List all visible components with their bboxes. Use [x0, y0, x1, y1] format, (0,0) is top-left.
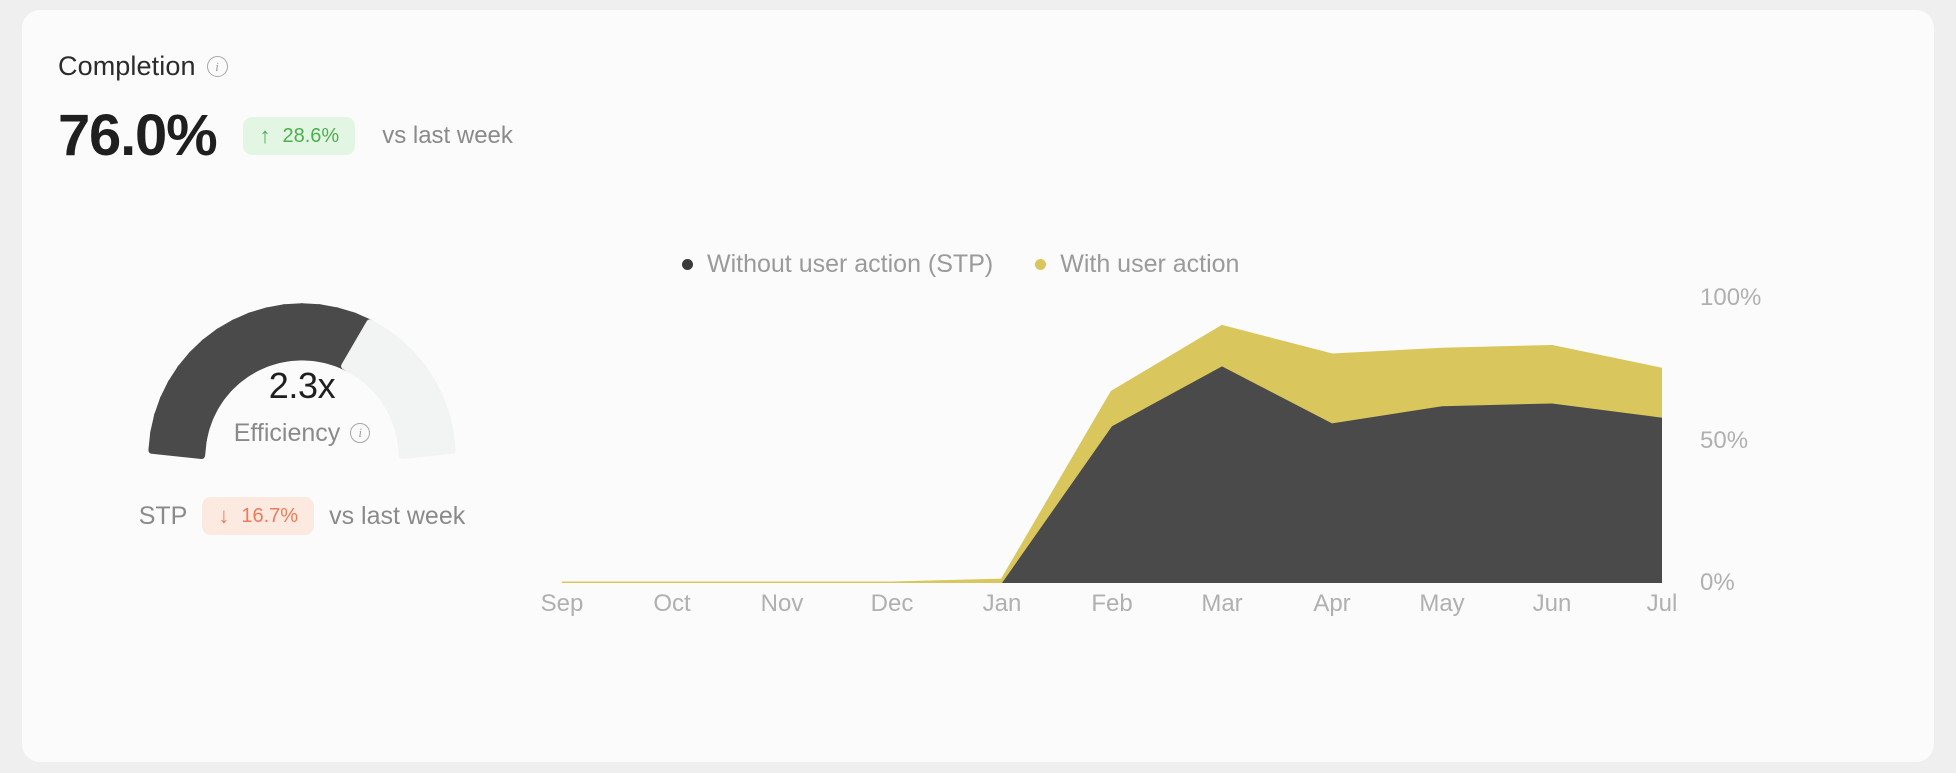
- completion-area-chart-block: Without user action (STP) With user acti…: [682, 250, 1872, 650]
- efficiency-label: Efficiency: [234, 419, 341, 447]
- kpi-title-row: Completion i: [58, 50, 958, 82]
- legend-item-with-user-action[interactable]: With user action: [1035, 250, 1239, 278]
- y-axis-tick-label: 50%: [1700, 427, 1748, 455]
- chart-legend: Without user action (STP) With user acti…: [682, 250, 1239, 278]
- efficiency-value: 2.3x: [82, 365, 522, 407]
- stp-row: STP ↓ 16.7% vs last week: [82, 497, 522, 535]
- gauge-center-labels: 2.3x Efficiency i: [82, 365, 522, 447]
- info-icon[interactable]: i: [207, 56, 228, 77]
- page-root: Completion i 76.0% ↑ 28.6% vs last week …: [0, 0, 1956, 773]
- legend-label: With user action: [1060, 250, 1239, 278]
- legend-dot-icon: [1035, 259, 1046, 270]
- info-icon[interactable]: i: [350, 423, 370, 443]
- x-axis-tick-label: Jul: [1647, 590, 1678, 618]
- x-axis-tick-label: Jan: [983, 590, 1022, 618]
- kpi-header: Completion i 76.0% ↑ 28.6% vs last week: [58, 50, 958, 167]
- chart-plot-area: [562, 298, 1662, 583]
- x-axis-tick-label: May: [1419, 590, 1464, 618]
- x-axis-tick-label: Nov: [761, 590, 804, 618]
- completion-delta-badge: ↑ 28.6%: [243, 117, 355, 155]
- stp-label: STP: [139, 502, 188, 530]
- completion-delta-caption: vs last week: [382, 123, 513, 149]
- chart-y-axis: 0%50%100%: [1700, 250, 1860, 630]
- stp-delta-value: 16.7%: [241, 505, 298, 527]
- completion-value: 76.0%: [58, 105, 216, 167]
- legend-label: Without user action (STP): [707, 250, 993, 278]
- x-axis-tick-label: Apr: [1313, 590, 1350, 618]
- stp-delta-caption: vs last week: [329, 502, 465, 530]
- kpi-value-row: 76.0% ↑ 28.6% vs last week: [58, 105, 958, 167]
- x-axis-tick-label: Dec: [871, 590, 914, 618]
- legend-item-stp[interactable]: Without user action (STP): [682, 250, 993, 278]
- page-title: Completion: [58, 50, 196, 82]
- x-axis-tick-label: Feb: [1091, 590, 1132, 618]
- area-chart-svg: [562, 298, 1662, 583]
- x-axis-tick-label: Jun: [1533, 590, 1572, 618]
- y-axis-tick-label: 0%: [1700, 569, 1735, 597]
- arrow-up-icon: ↑: [259, 125, 270, 147]
- arrow-down-icon: ↓: [218, 505, 229, 527]
- x-axis-tick-label: Sep: [541, 590, 584, 618]
- completion-delta-value: 28.6%: [282, 125, 339, 147]
- y-axis-tick-label: 100%: [1700, 284, 1761, 312]
- completion-kpi-card: Completion i 76.0% ↑ 28.6% vs last week …: [22, 10, 1934, 762]
- legend-dot-icon: [682, 259, 693, 270]
- x-axis-tick-label: Mar: [1201, 590, 1242, 618]
- efficiency-gauge-block: 2.3x Efficiency i STP ↓ 16.7% vs last we…: [82, 245, 562, 645]
- x-axis-tick-label: Oct: [653, 590, 690, 618]
- stp-delta-badge: ↓ 16.7%: [202, 497, 314, 535]
- chart-x-axis: SepOctNovDecJanFebMarAprMayJunJul: [562, 590, 1362, 630]
- efficiency-label-row: Efficiency i: [82, 419, 522, 447]
